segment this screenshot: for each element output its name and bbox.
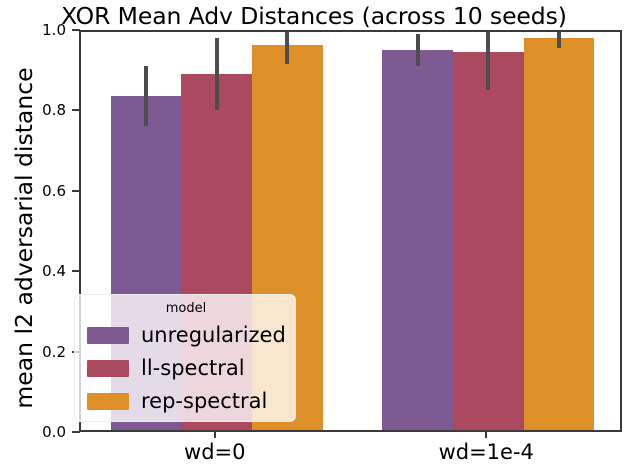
figure-canvas: XOR Mean Adv Distances (across 10 seeds)… <box>0 0 628 464</box>
legend-swatch <box>87 360 129 377</box>
legend-label: rep-spectral <box>141 387 267 415</box>
legend-entry[interactable]: rep-spectral <box>87 387 293 415</box>
error-bar <box>557 32 561 48</box>
y-tick-label: 0.6 <box>6 182 66 200</box>
bar <box>382 50 453 432</box>
x-tick-label: wd=0 <box>115 440 315 464</box>
y-tick-label: 1.0 <box>6 21 66 39</box>
legend-swatch <box>87 393 129 410</box>
legend: model unregularizedll-spectralrep-spectr… <box>74 294 296 422</box>
legend-swatch <box>87 327 129 344</box>
y-tick-label: 0.0 <box>6 423 66 441</box>
error-bar <box>285 32 289 64</box>
y-tick-label: 0.8 <box>6 101 66 119</box>
legend-label: unregularized <box>141 321 286 349</box>
error-bar <box>215 38 219 110</box>
x-tick-label: wd=1e-4 <box>386 440 586 464</box>
bar <box>524 38 595 432</box>
chart-title: XOR Mean Adv Distances (across 10 seeds) <box>0 2 628 30</box>
y-tick-label: 0.2 <box>6 343 66 361</box>
legend-entry[interactable]: ll-spectral <box>87 354 293 382</box>
legend-title: model <box>75 301 297 316</box>
error-bar <box>486 32 490 90</box>
legend-entry[interactable]: unregularized <box>87 321 293 349</box>
error-bar <box>144 66 148 126</box>
error-bar <box>416 34 420 66</box>
legend-label: ll-spectral <box>141 354 245 382</box>
y-axis-label: mean l2 adversarial distance <box>10 28 38 448</box>
y-tick-label: 0.4 <box>6 262 66 280</box>
bar <box>453 52 524 432</box>
